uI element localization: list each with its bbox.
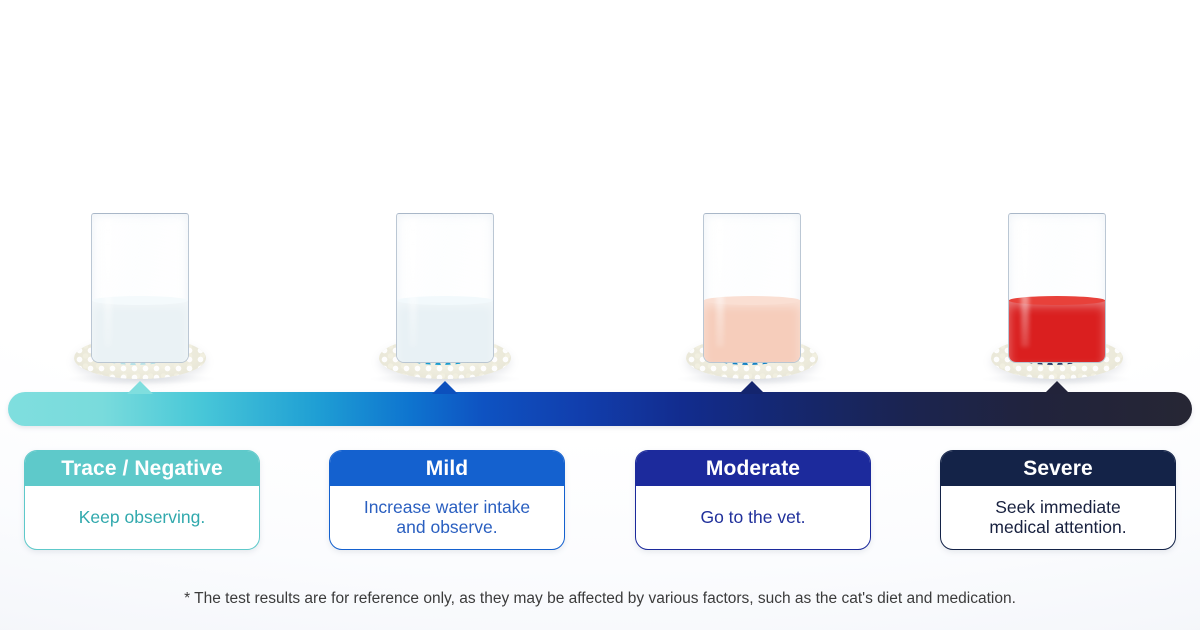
scale-marker-mild bbox=[432, 381, 458, 394]
beaker-liquid-severe bbox=[1009, 300, 1105, 362]
severity-card-title-severe: Severe bbox=[941, 451, 1175, 486]
scale-marker-moderate bbox=[739, 381, 765, 394]
disclaimer-footnote: * The test results are for reference onl… bbox=[0, 590, 1200, 608]
scale-marker-severe bbox=[1044, 381, 1070, 394]
severity-card-advice-mild: Increase water intake and observe. bbox=[330, 486, 564, 549]
beaker-liquid-trace-negative bbox=[92, 300, 188, 362]
severity-card-title-mild: Mild bbox=[330, 451, 564, 486]
beaker-sample-mild bbox=[325, 195, 565, 385]
beaker-sample-row bbox=[0, 195, 1200, 385]
beaker-icon-trace-negative bbox=[91, 213, 189, 363]
beaker-icon-severe bbox=[1008, 213, 1106, 363]
beaker-sample-severe bbox=[937, 195, 1177, 385]
severity-card-advice-trace-negative: Keep observing. bbox=[25, 486, 259, 549]
severity-card-title-trace-negative: Trace / Negative bbox=[25, 451, 259, 486]
scale-marker-trace-negative bbox=[127, 381, 153, 394]
beaker-sample-moderate bbox=[632, 195, 872, 385]
severity-card-moderate[interactable]: Moderate Go to the vet. bbox=[635, 450, 871, 550]
beaker-icon-moderate bbox=[703, 213, 801, 363]
severity-card-advice-moderate: Go to the vet. bbox=[636, 486, 870, 549]
severity-card-title-moderate: Moderate bbox=[636, 451, 870, 486]
beaker-liquid-moderate bbox=[704, 300, 800, 362]
severity-card-advice-severe: Seek immediate medical attention. bbox=[941, 486, 1175, 549]
severity-card-trace-negative[interactable]: Trace / Negative Keep observing. bbox=[24, 450, 260, 550]
severity-card-severe[interactable]: Severe Seek immediate medical attention. bbox=[940, 450, 1176, 550]
urine-test-severity-scale-graphic: Trace / Negative Keep observing. Mild In… bbox=[0, 0, 1200, 630]
severity-card-mild[interactable]: Mild Increase water intake and observe. bbox=[329, 450, 565, 550]
severity-gradient-bar bbox=[8, 392, 1192, 426]
beaker-liquid-mild bbox=[397, 300, 493, 362]
beaker-icon-mild bbox=[396, 213, 494, 363]
beaker-sample-trace-negative bbox=[20, 195, 260, 385]
